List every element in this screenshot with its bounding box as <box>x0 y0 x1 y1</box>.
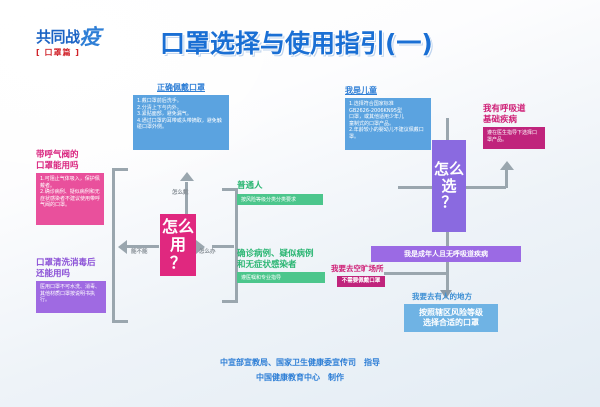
label-open-space: 我要去空旷场所 <box>331 264 384 273</box>
card-correct-wear-title: 正确佩戴口罩 <box>133 83 229 93</box>
card-reuse-mask-title: 口罩清洗消毒后 还能用吗 <box>36 258 108 279</box>
card-reuse-mask: 口罩清洗消毒后 还能用吗 医用口罩不可水洗、消毒、其他材质口罩按说明书执行。 <box>36 258 108 313</box>
card-child-body: 1.选择符合国家标准 GB2626-2006KN95型 口罩，或其他适用少年儿 … <box>345 98 431 150</box>
connector-howtouse-to-correctwear <box>185 182 188 214</box>
card-respiratory-disease: 我有呼吸道 基础疾病 遵在医生指导下选择口罩产品。 <box>483 104 557 149</box>
card-respiratory-disease-body: 遵在医生指导下选择口罩产品。 <box>483 127 545 149</box>
bracket-right-group <box>222 188 238 303</box>
campaign-logo: 共同战疫 [ 口罩篇 ] <box>36 27 128 69</box>
connector-howtochoose-to-child <box>446 118 449 140</box>
footer-credits: 中宣部宣教局、国家卫生健康委宣传司 指导 中国健康教育中心 制作 <box>0 355 600 385</box>
card-confirmed-case-title: 确诊病例、疑似病例 和无症状感染者 <box>237 249 325 270</box>
decision-how-to-use[interactable]: 怎么用 ？ <box>160 214 196 276</box>
bar-crowded-place-answer: 按照辖区风险等级 选择合适的口罩 <box>404 304 498 332</box>
card-correct-wear-body: 1.戴口罩前后洗手。 2.分清上下与内外。 3.紧贴面部，避免漏气。 4.通过口… <box>133 95 229 150</box>
edge-label-how-to-handle: 怎么办 <box>199 249 216 256</box>
card-respiratory-disease-title: 我有呼吸道 基础疾病 <box>483 104 557 125</box>
poster-canvas: 共同战疫 [ 口罩篇 ] 口罩选择与使用指引(一) 带呼气阀的 口罩能用吗 1.… <box>0 0 600 407</box>
connector-left-into-howtochoose <box>398 186 432 189</box>
card-child: 我是儿童 1.选择符合国家标准 GB2626-2006KN95型 口罩，或其他适… <box>345 86 431 150</box>
card-confirmed-case-body: 遵医嘱和专业指导 <box>237 272 325 283</box>
connector-to-respiratory <box>505 170 508 188</box>
edge-label-can-or-not: 能不能 <box>131 249 148 256</box>
arrow-up-correctwear <box>180 172 194 181</box>
arrow-up-respiratory <box>500 161 514 170</box>
connector-openspace-stub <box>384 272 396 275</box>
card-correct-wear: 正确佩戴口罩 1.戴口罩前后洗手。 2.分清上下与内外。 3.紧贴面部，避免漏气… <box>133 83 229 150</box>
logo-main-text: 共同战疫 <box>36 27 128 45</box>
card-confirmed-case: 确诊病例、疑似病例 和无症状感染者 遵医嘱和专业指导 <box>237 249 325 283</box>
card-valve-mask-body: 1.可阻止气体吸入，保护佩戴者。 2.确诊病例、疑似病例和无症状感染者不建议使用… <box>36 173 104 225</box>
bar-adult-healthy: 我是成年人且无呼吸道疾病 <box>371 246 521 262</box>
card-general-public-title: 普通人 <box>237 181 323 192</box>
edge-label-how-to-wear: 怎么戴 <box>172 190 189 197</box>
bracket-left-group <box>112 168 128 323</box>
connector-howtouse-left <box>127 245 159 248</box>
card-child-title: 我是儿童 <box>345 86 431 96</box>
card-valve-mask-title: 带呼气阀的 口罩能用吗 <box>36 150 104 171</box>
card-general-public-body: 按风险等级分类分类要求 <box>237 194 323 205</box>
card-reuse-mask-body: 医用口罩不可水洗、消毒、其他材质口罩按说明书执行。 <box>36 281 106 313</box>
connector-adult-to-openspace <box>392 272 448 275</box>
connector-right-from-howtochoose <box>466 186 506 189</box>
bar-open-space-answer: 不需要佩戴口罩 <box>337 276 385 287</box>
card-valve-mask: 带呼气阀的 口罩能用吗 1.可阻止气体吸入，保护佩戴者。 2.确诊病例、疑似病例… <box>36 150 104 225</box>
label-crowded-place: 我要去有人的地方 <box>412 292 472 301</box>
page-title: 口罩选择与使用指引(一) <box>160 24 450 60</box>
decision-how-to-choose[interactable]: 怎么 选 ？ <box>432 140 466 232</box>
card-general-public: 普通人 按风险等级分类分类要求 <box>237 181 323 205</box>
connector-adult-down <box>446 262 449 292</box>
logo-accent-text: 疫 <box>80 25 101 49</box>
